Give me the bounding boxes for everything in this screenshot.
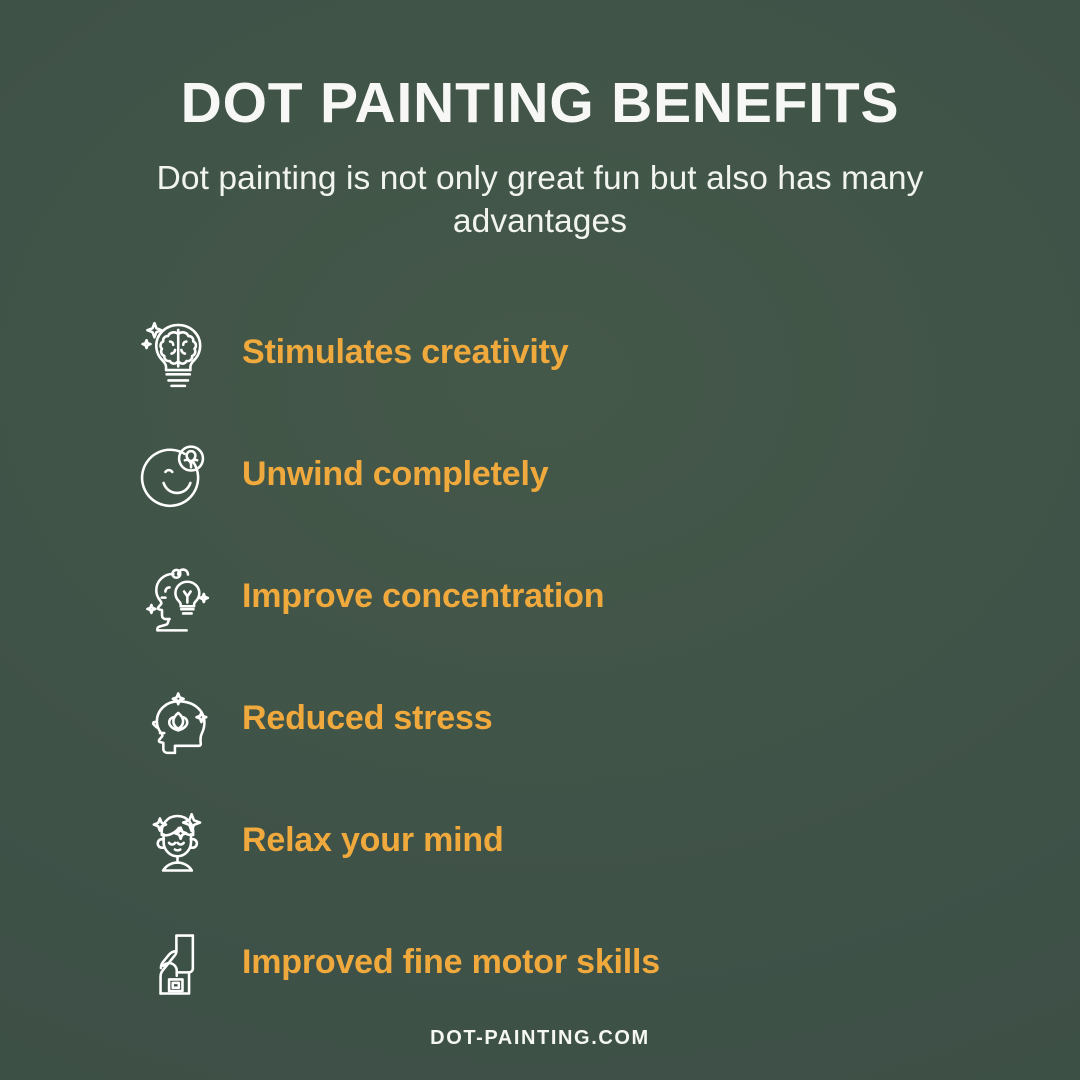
page-subtitle: Dot painting is not only great fun but a… [145,158,935,244]
benefit-label: Relax your mind [242,821,504,860]
page-title: DOT PAINTING BENEFITS [0,74,1080,134]
head-lotus-sparkle-icon [138,680,216,758]
list-item: Improved fine motor skills [138,902,660,1024]
head-profile-lightbulb-icon [138,558,216,636]
benefit-label: Reduced stress [242,699,492,738]
list-item: Improve concentration [138,536,604,658]
website-url: DOT-PAINTING.COM [430,1027,650,1049]
benefit-label: Improved fine motor skills [242,943,660,982]
list-item: Stimulates creativity [138,292,569,414]
benefit-label: Unwind completely [242,455,548,494]
list-item: Reduced stress [138,658,492,780]
benefit-label: Stimulates creativity [242,333,569,372]
benefits-list: Stimulates creativity Unwind completely [0,292,1080,1024]
hand-holding-object-icon [138,924,216,1002]
list-item: Unwind completely [138,414,548,536]
meditating-person-sparkle-icon [138,802,216,880]
poster-header: DOT PAINTING BENEFITS Dot painting is no… [0,0,1080,244]
poster-footer: DOT-PAINTING.COM [0,1027,1080,1050]
poster-canvas: DOT PAINTING BENEFITS Dot painting is no… [0,0,1080,1080]
benefit-label: Improve concentration [242,577,604,616]
list-item: Relax your mind [138,780,504,902]
smiley-face-flower-icon [138,436,216,514]
lightbulb-brain-sparkle-icon [138,314,216,392]
